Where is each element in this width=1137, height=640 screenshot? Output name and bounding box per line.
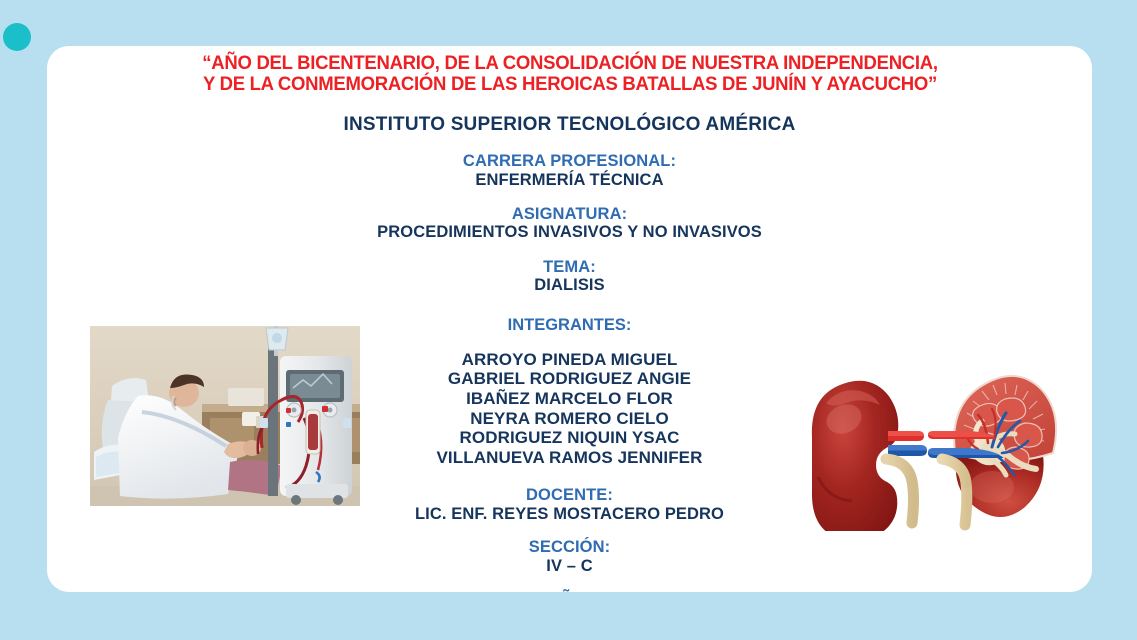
dialysis-photo-graphic	[90, 326, 360, 506]
field-asignatura: ASIGNATURA: PROCEDIMIENTOS INVASIVOS Y N…	[47, 206, 1092, 242]
field-carrera-label: CARRERA PROFESIONAL:	[47, 153, 1092, 171]
field-tema: TEMA: DIALISIS	[47, 259, 1092, 295]
field-anio-label: AÑO:	[47, 591, 1092, 592]
field-carrera: CARRERA PROFESIONAL: ENFERMERÍA TÉCNICA	[47, 153, 1092, 189]
institute-name: INSTITUTO SUPERIOR TECNOLÓGICO AMÉRICA	[47, 114, 1092, 136]
kidneys-graphic	[792, 351, 1067, 531]
field-asignatura-label: ASIGNATURA:	[47, 206, 1092, 224]
kidneys-illustration	[792, 351, 1067, 531]
field-anio: AÑO: 2024	[47, 591, 1092, 592]
field-seccion-value: IV – C	[47, 557, 1092, 575]
field-seccion-label: SECCIÓN:	[47, 539, 1092, 557]
field-asignatura-value: PROCEDIMIENTOS INVASIVOS Y NO INVASIVOS	[47, 223, 1092, 241]
bicentenary-banner-title: “AÑO DEL BICENTENARIO, DE LA CONSOLIDACI…	[194, 51, 945, 95]
decorative-accent-circle	[3, 23, 31, 51]
field-tema-value: DIALISIS	[47, 276, 1092, 294]
field-seccion: SECCIÓN: IV – C	[47, 539, 1092, 575]
slide-card: “AÑO DEL BICENTENARIO, DE LA CONSOLIDACI…	[47, 46, 1092, 592]
field-carrera-value: ENFERMERÍA TÉCNICA	[47, 171, 1092, 189]
field-tema-label: TEMA:	[47, 259, 1092, 277]
dialysis-patient-photo	[90, 326, 360, 506]
